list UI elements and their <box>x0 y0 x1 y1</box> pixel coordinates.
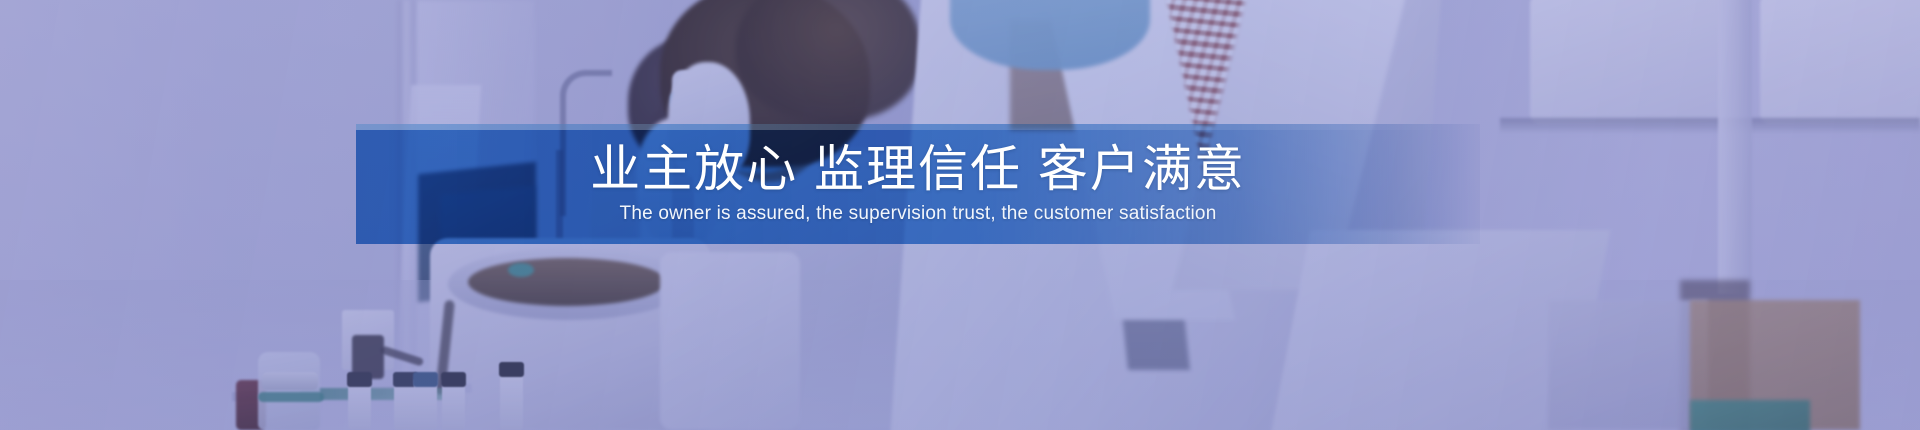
banner-text-block: 业主放心 监理信任 客户满意 The owner is assured, the… <box>356 124 1480 244</box>
banner-headline: 业主放心 监理信任 客户满意 <box>590 143 1246 195</box>
banner-subtitle: The owner is assured, the supervision tr… <box>620 203 1217 225</box>
hero-banner: 业主放心 监理信任 客户满意 The owner is assured, the… <box>0 0 1920 430</box>
